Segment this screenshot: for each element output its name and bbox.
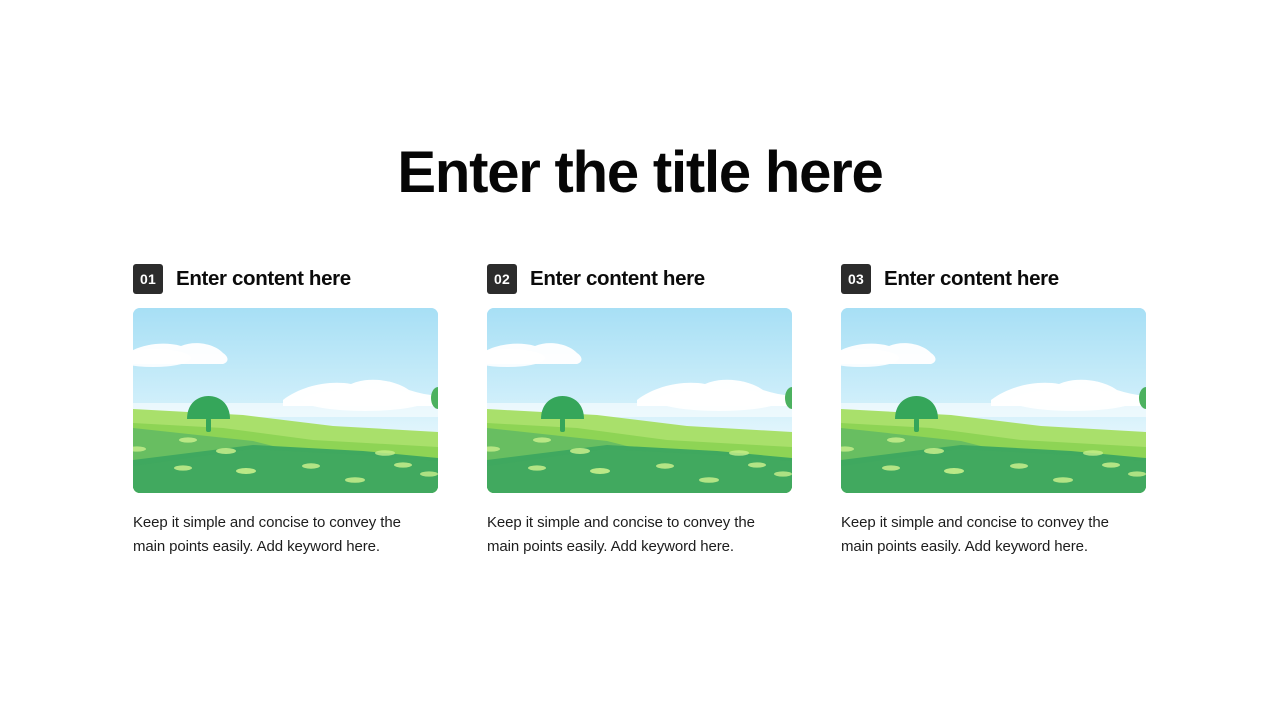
content-column-3[interactable]: 03 Enter content here bbox=[841, 262, 1146, 559]
column-body-text[interactable]: Keep it simple and concise to convey the… bbox=[487, 511, 787, 559]
column-body-text[interactable]: Keep it simple and concise to convey the… bbox=[133, 511, 433, 559]
content-columns: 01 Enter content here bbox=[133, 262, 1147, 559]
page-title[interactable]: Enter the title here bbox=[0, 138, 1280, 208]
landscape-image-2[interactable] bbox=[487, 308, 792, 493]
content-column-2[interactable]: 02 Enter content here bbox=[487, 262, 792, 559]
step-number-badge: 01 bbox=[133, 264, 163, 294]
landscape-illustration-icon bbox=[487, 308, 792, 493]
landscape-image-1[interactable] bbox=[133, 308, 438, 493]
column-header-2: 02 Enter content here bbox=[487, 262, 792, 296]
landscape-illustration-icon bbox=[841, 308, 1146, 493]
content-column-1[interactable]: 01 Enter content here bbox=[133, 262, 438, 559]
column-header-3: 03 Enter content here bbox=[841, 262, 1146, 296]
column-heading[interactable]: Enter content here bbox=[884, 267, 1059, 291]
step-number-badge: 03 bbox=[841, 264, 871, 294]
step-number-badge: 02 bbox=[487, 264, 517, 294]
column-header-1: 01 Enter content here bbox=[133, 262, 438, 296]
column-body-text[interactable]: Keep it simple and concise to convey the… bbox=[841, 511, 1141, 559]
landscape-illustration-icon bbox=[133, 308, 438, 493]
landscape-image-3[interactable] bbox=[841, 308, 1146, 493]
column-heading[interactable]: Enter content here bbox=[530, 267, 705, 291]
slide-canvas: Enter the title here 01 Enter content he… bbox=[0, 0, 1280, 720]
column-heading[interactable]: Enter content here bbox=[176, 267, 351, 291]
